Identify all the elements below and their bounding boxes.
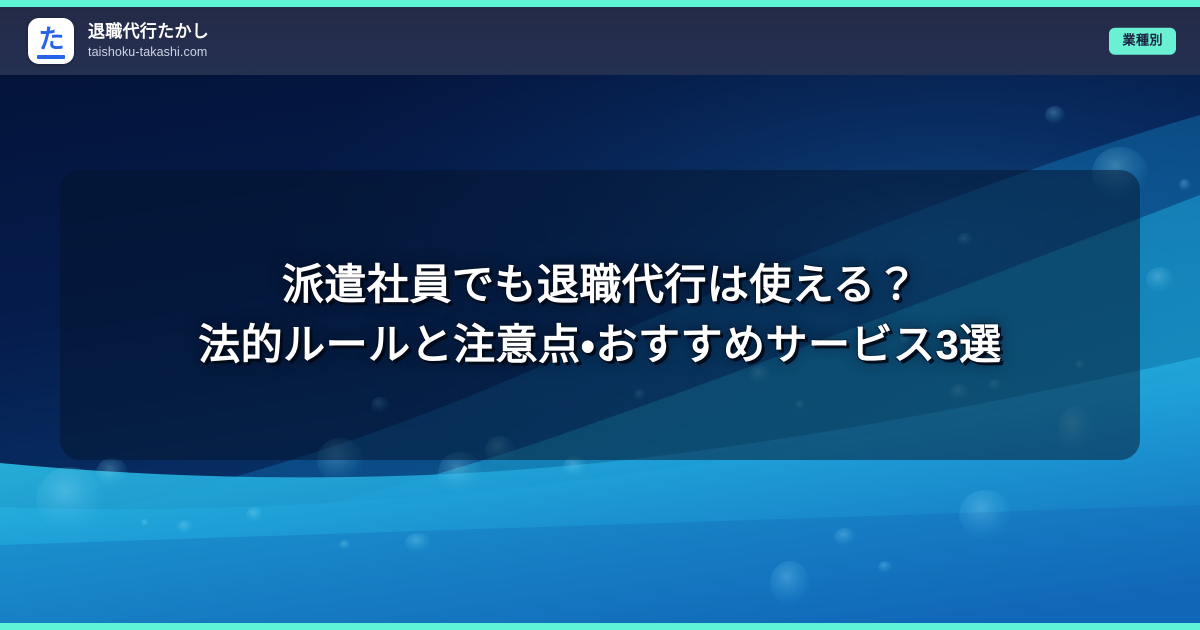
brand-text-block: 退職代行たかし taishoku-takashi.com: [88, 21, 209, 62]
top-accent-bar: [0, 0, 1200, 7]
site-logo-ta-icon: た: [28, 18, 74, 64]
logo-glyph: た: [38, 26, 63, 52]
title-line-2: 法的ルールと注意点・おすすめサービス3選: [198, 315, 1002, 375]
site-header: た 退職代行たかし taishoku-takashi.com 業種別: [0, 7, 1200, 75]
site-url: taishoku-takashi.com: [88, 44, 209, 62]
site-title: 退職代行たかし: [88, 21, 209, 42]
brand-block[interactable]: た 退職代行たかし taishoku-takashi.com: [28, 18, 209, 64]
category-badge[interactable]: 業種別: [1109, 28, 1176, 55]
bottom-accent-bar: [0, 623, 1200, 630]
title-line-1: 派遣社員でも退職代行は使える？: [282, 255, 918, 315]
ogp-card-canvas: た 退職代行たかし taishoku-takashi.com 業種別: [0, 0, 1200, 630]
logo-underline-bar: [37, 55, 65, 59]
title-card: 派遣社員でも退職代行は使える？ 法的ルールと注意点・おすすめサービス3選: [60, 170, 1140, 460]
